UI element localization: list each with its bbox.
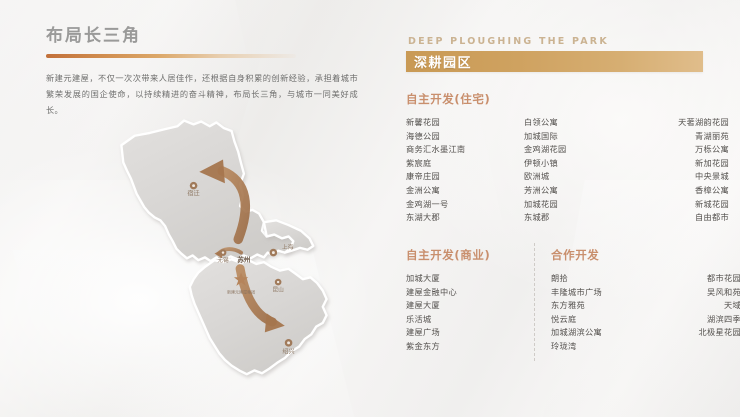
list-item: 朗拾 xyxy=(551,272,651,286)
list-item: 建屋金融中心 xyxy=(406,286,531,300)
list-item: 金鸡湖一号 xyxy=(406,198,524,212)
list-item: 玲珑湾 xyxy=(551,340,651,354)
list-item: 紫宸庭 xyxy=(406,157,524,171)
vertical-dotted-divider xyxy=(534,243,535,361)
svg-text:新建元建屋集团: 新建元建屋集团 xyxy=(227,288,255,294)
list-item: 新馨花园 xyxy=(406,116,524,130)
list-item: 乐活城 xyxy=(406,313,531,327)
project-column-2: 白领公寓 加城国际 金鸡湖花园 伊顿小镇 欧洲城 芳洲公寓 加城花园 东城郡 xyxy=(524,116,634,225)
section-residential: 自主开发(住宅) 新馨花园 海德公园 商务汇水墨江南 紫宸庭 康帝庄园 金洲公寓… xyxy=(406,91,736,225)
list-item: 欧洲城 xyxy=(524,170,634,184)
project-columns: 新馨花园 海德公园 商务汇水墨江南 紫宸庭 康帝庄园 金洲公寓 金鸡湖一号 东湖… xyxy=(406,116,736,225)
list-item: 康帝庄园 xyxy=(406,170,524,184)
project-columns: 朗拾 丰隆城市广场 东方雅苑 悦云庭 加城湖滨公寓 玲珑湾 都市花园 吴风和苑 … xyxy=(551,272,740,354)
right-panel: DEEP PLOUGHING THE PARK 深耕园区 自主开发(住宅) 新馨… xyxy=(406,36,726,72)
list-item: 白领公寓 xyxy=(524,116,634,130)
section-banner: 深耕园区 xyxy=(406,51,703,72)
list-item: 加城大厦 xyxy=(406,272,531,286)
list-item: 加城湖滨公寓 xyxy=(551,326,651,340)
yangtze-delta-map: 宿迁 无锡 苏州 新建元建屋集团 上海 昆山 xyxy=(118,112,348,397)
section-heading: 自主开发(住宅) xyxy=(406,91,736,107)
title-underline-rule xyxy=(46,54,296,58)
list-item: 伊顿小镇 xyxy=(524,157,634,171)
list-item: 湖滨四季 xyxy=(651,313,740,327)
list-item: 海德公园 xyxy=(406,130,524,144)
list-item: 金洲公寓 xyxy=(406,184,524,198)
list-item: 青湖丽苑 xyxy=(634,130,729,144)
list-item: 天著湖韵花园 xyxy=(634,116,729,130)
list-item: 天域 xyxy=(651,299,740,313)
list-item: 紫金东方 xyxy=(406,340,531,354)
list-item: 商务汇水墨江南 xyxy=(406,143,524,157)
section-heading: 自主开发(商业) xyxy=(406,247,531,263)
list-item: 香樟公寓 xyxy=(634,184,729,198)
list-item: 东城郡 xyxy=(524,211,634,225)
section-heading: 合作开发 xyxy=(551,247,740,263)
section-commercial: 自主开发(商业) 加城大厦 建屋金融中心 建屋大厦 乐活城 建屋广场 紫金东方 xyxy=(406,247,531,354)
list-item: 金鸡湖花园 xyxy=(524,143,634,157)
section-banner-label: 深耕园区 xyxy=(406,52,472,71)
list-item: 新城花园 xyxy=(634,198,729,212)
list-item: 加城国际 xyxy=(524,130,634,144)
page-title: 布局长三角 xyxy=(46,26,364,46)
list-item: 新加花园 xyxy=(634,157,729,171)
list-item: 自由都市 xyxy=(634,211,729,225)
project-column-1: 新馨花园 海德公园 商务汇水墨江南 紫宸庭 康帝庄园 金洲公寓 金鸡湖一号 东湖… xyxy=(406,116,524,225)
project-column-1: 加城大厦 建屋金融中心 建屋大厦 乐活城 建屋广场 紫金东方 xyxy=(406,272,531,354)
list-item: 悦云庭 xyxy=(551,313,651,327)
list-item: 北极星花园 xyxy=(651,326,740,340)
list-item: 东湖大郡 xyxy=(406,211,524,225)
list-item: 万栎公寓 xyxy=(634,143,729,157)
svg-text:苏州: 苏州 xyxy=(237,255,251,264)
project-column-2: 都市花园 吴风和苑 天域 湖滨四季 北极星花园 xyxy=(651,272,740,354)
list-item: 建屋大厦 xyxy=(406,299,531,313)
project-column-1: 朗拾 丰隆城市广场 东方雅苑 悦云庭 加城湖滨公寓 玲珑湾 xyxy=(551,272,651,354)
list-item: 建屋广场 xyxy=(406,326,531,340)
section-cooperative: 合作开发 朗拾 丰隆城市广场 东方雅苑 悦云庭 加城湖滨公寓 玲珑湾 都市花园 … xyxy=(551,247,740,354)
list-item: 芳洲公寓 xyxy=(524,184,634,198)
panel-eyebrow: DEEP PLOUGHING THE PARK xyxy=(408,36,726,47)
svg-text:宿迁: 宿迁 xyxy=(187,190,199,198)
map-region-jiangsu xyxy=(121,121,293,262)
slide-root: 布局长三角 新建元建屋，不仅一次次带来人居佳作，还根据自身积累的创新经验，承担着… xyxy=(0,0,740,417)
project-column-3: 天著湖韵花园 青湖丽苑 万栎公寓 新加花园 中央景城 香樟公寓 新城花园 自由都… xyxy=(634,116,729,225)
list-item: 中央景城 xyxy=(634,170,729,184)
list-item: 东方雅苑 xyxy=(551,299,651,313)
list-item: 加城花园 xyxy=(524,198,634,212)
list-item: 吴风和苑 xyxy=(651,286,740,300)
svg-text:绍兴: 绍兴 xyxy=(282,347,294,355)
list-item: 都市花园 xyxy=(651,272,740,286)
list-item: 丰隆城市广场 xyxy=(551,286,651,300)
